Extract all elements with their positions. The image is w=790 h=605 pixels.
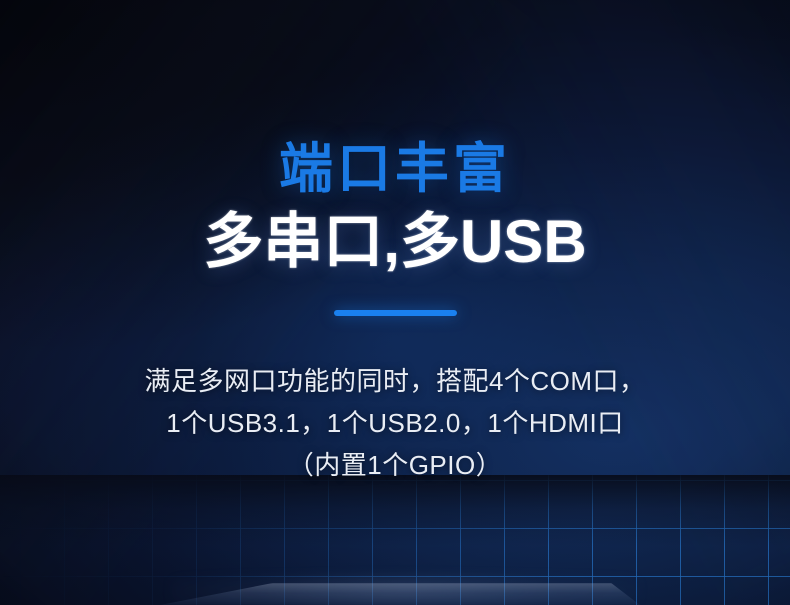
banner-content: 端口丰富 多串口,多USB 满足多网口功能的同时，搭配4个COM口， 1个USB… [0,0,790,605]
port-feature-banner: 端口丰富 多串口,多USB 满足多网口功能的同时，搭配4个COM口， 1个USB… [0,0,790,605]
headline-primary: 端口丰富 [279,142,511,196]
body-line-3: （内置1个GPIO） [144,444,645,486]
body-line-2: 1个USB3.1，1个USB2.0，1个HDMI口 [144,402,645,444]
accent-divider-bar [334,310,457,316]
body-line-1: 满足多网口功能的同时，搭配4个COM口， [144,360,645,402]
body-description: 满足多网口功能的同时，搭配4个COM口， 1个USB3.1，1个USB2.0，1… [144,360,645,486]
headline-secondary: 多串口,多USB [203,212,586,272]
